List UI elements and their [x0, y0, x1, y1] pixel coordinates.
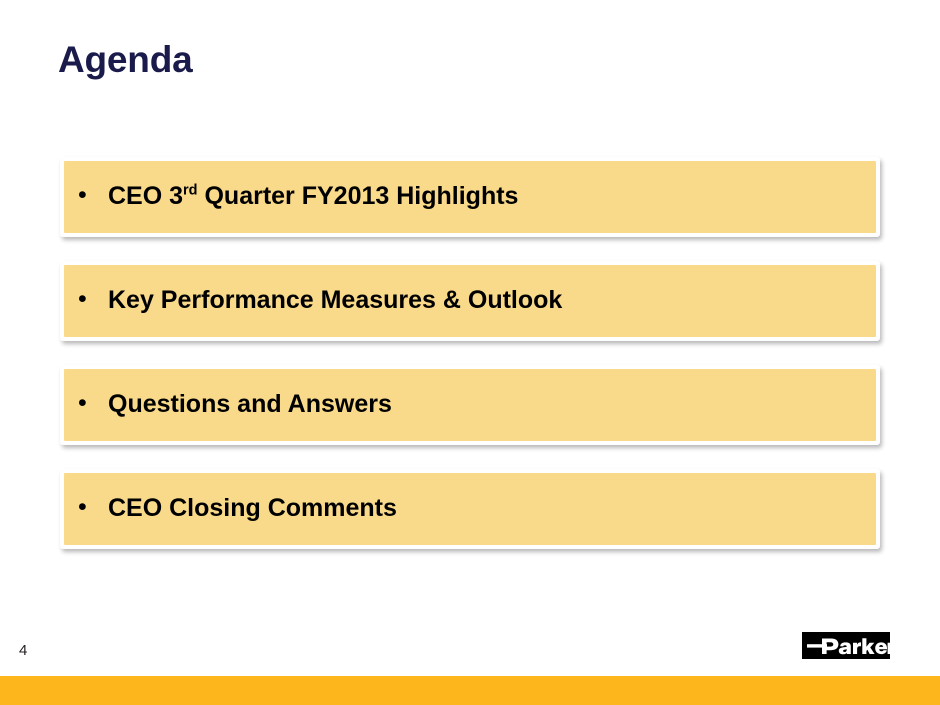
- bullet-icon: •: [78, 183, 108, 208]
- agenda-item-1-body: • CEO 3rd Quarter FY2013 Highlights: [64, 161, 876, 233]
- agenda-item-1-text-before: CEO 3: [108, 182, 183, 210]
- agenda-item-1-text-after: Quarter FY2013 Highlights: [198, 182, 519, 210]
- agenda-item-4-label: CEO Closing Comments: [108, 495, 876, 523]
- agenda-item-4-body: • CEO Closing Comments: [64, 473, 876, 545]
- agenda-item-1[interactable]: • CEO 3rd Quarter FY2013 Highlights: [60, 157, 880, 237]
- agenda-item-3-label: Questions and Answers: [108, 391, 876, 419]
- agenda-item-4[interactable]: • CEO Closing Comments: [60, 469, 880, 549]
- page-number: 4: [19, 643, 27, 658]
- agenda-item-2-label: Key Performance Measures & Outlook: [108, 287, 876, 315]
- bullet-icon: •: [78, 495, 108, 520]
- agenda-item-3[interactable]: • Questions and Answers: [60, 365, 880, 445]
- page-title: Agenda: [58, 40, 192, 81]
- bottom-accent-bar: [0, 676, 940, 705]
- parker-logo: [802, 632, 890, 659]
- bullet-icon: •: [78, 287, 108, 312]
- agenda-item-2-body: • Key Performance Measures & Outlook: [64, 265, 876, 337]
- agenda-item-4-text-before: CEO Closing Comments: [108, 494, 397, 522]
- agenda-item-2-text-before: Key Performance Measures & Outlook: [108, 286, 562, 314]
- agenda-item-1-superscript: rd: [183, 183, 198, 199]
- bullet-icon: •: [78, 391, 108, 416]
- agenda-item-2[interactable]: • Key Performance Measures & Outlook: [60, 261, 880, 341]
- slide-canvas: Agenda • CEO 3rd Quarter FY2013 Highligh…: [0, 0, 940, 705]
- agenda-list: • CEO 3rd Quarter FY2013 Highlights • Ke…: [60, 157, 880, 549]
- agenda-item-3-body: • Questions and Answers: [64, 369, 876, 441]
- agenda-item-3-text-before: Questions and Answers: [108, 390, 392, 418]
- agenda-item-1-label: CEO 3rd Quarter FY2013 Highlights: [108, 183, 876, 211]
